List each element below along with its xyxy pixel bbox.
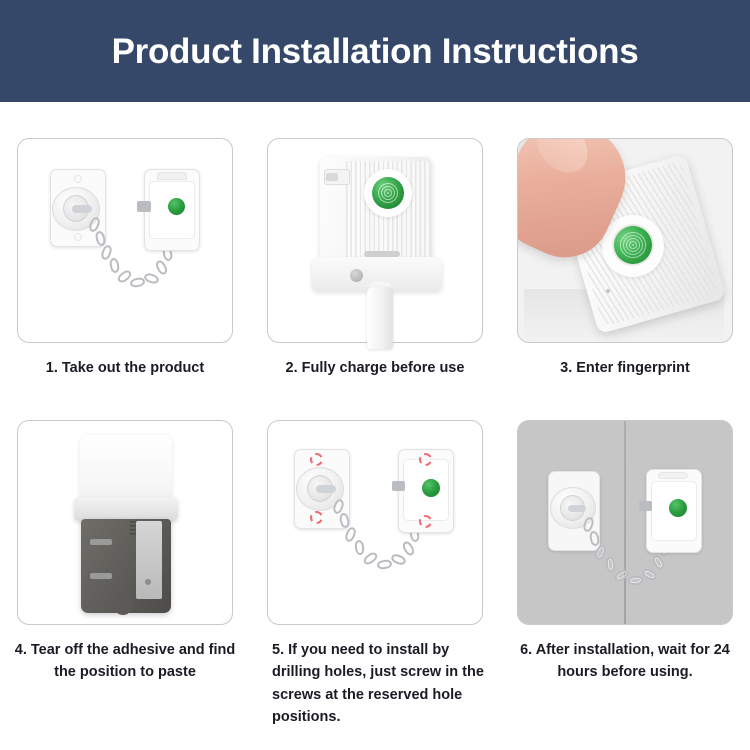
step-6-illustration [517,420,733,625]
vent-lines [130,521,136,535]
step-card-1: 1. Take out the product [0,138,250,379]
status-led-dot [606,289,610,293]
page-header: Product Installation Instructions [0,0,750,102]
lock-body-cap [157,172,187,180]
chain-link [390,553,407,567]
chain-link [401,540,416,557]
fingerprint-button-icon [422,479,440,497]
rear-button [114,597,132,615]
installation-instructions-page: Product Installation Instructions [0,0,750,750]
step-2-caption: 2. Fully charge before use [250,357,500,379]
chain-link [628,575,644,586]
fingerprint-button-icon [669,499,687,517]
screw-hole-marker-icon [310,511,323,524]
step-4-caption: 4. Tear off the adhesive and find the po… [0,639,250,684]
chain-connector [392,481,405,491]
step-card-5: 5. If you need to install by drilling ho… [250,420,500,729]
plate-screw-hole-top-icon [74,175,82,183]
screw-hole-marker-icon [310,453,323,466]
chain-link [641,567,658,582]
lock-body-cap [658,472,688,479]
chain-link [109,257,120,273]
mount-rail-top [90,539,112,545]
chain-link [605,557,616,573]
step-3-illustration [517,138,733,343]
fingerprint-button-icon [168,198,185,215]
charging-port-slot [364,251,400,257]
chain-hook [568,505,586,512]
fingerprint-ridges-icon [376,181,400,205]
step-5-caption: 5. If you need to install by drilling ho… [250,639,500,729]
adhesive-liner [80,435,172,505]
chain-connector [639,501,652,511]
step-3-caption: 3. Enter fingerprint [500,357,750,379]
steps-grid: 1. Take out the product 2. Fully charge … [0,102,750,750]
step-card-2: 2. Fully charge before use [250,138,500,379]
step-5-illustration [267,420,483,625]
step-2-illustration [267,138,483,343]
cabinet-door-seam [624,421,626,625]
screw-hole [145,579,151,585]
chain-link [354,539,365,555]
step-card-6: 6. After installation, wait for 24 hours… [500,420,750,684]
step-1-caption: 1. Take out the product [0,357,250,379]
step-1-illustration [17,138,233,343]
page-title: Product Installation Instructions [112,34,639,69]
step-card-4: 4. Tear off the adhesive and find the po… [0,420,250,684]
chain-hook [316,485,336,493]
mount-rail-bottom [90,573,112,579]
screw-hole-marker-icon [419,453,432,466]
plate-screw-hole-bottom-icon [74,233,82,241]
usb-c-cable [367,287,393,349]
chain-link [376,559,392,570]
step-4-illustration [17,420,233,625]
chain-link [143,272,160,285]
chain-link [651,554,666,571]
chain-connector [137,201,151,212]
chain-link [154,259,169,276]
fingernail [526,138,598,183]
device-side-notch-inner [326,173,338,181]
step-card-3: 3. Enter fingerprint [500,138,750,379]
device-button-nub [350,269,363,282]
chain-hook [72,205,92,213]
adhesive-band [74,497,178,521]
adhesive-strip [136,521,162,599]
screw-hole-marker-icon [419,515,432,528]
step-6-caption: 6. After installation, wait for 24 hours… [500,639,750,684]
